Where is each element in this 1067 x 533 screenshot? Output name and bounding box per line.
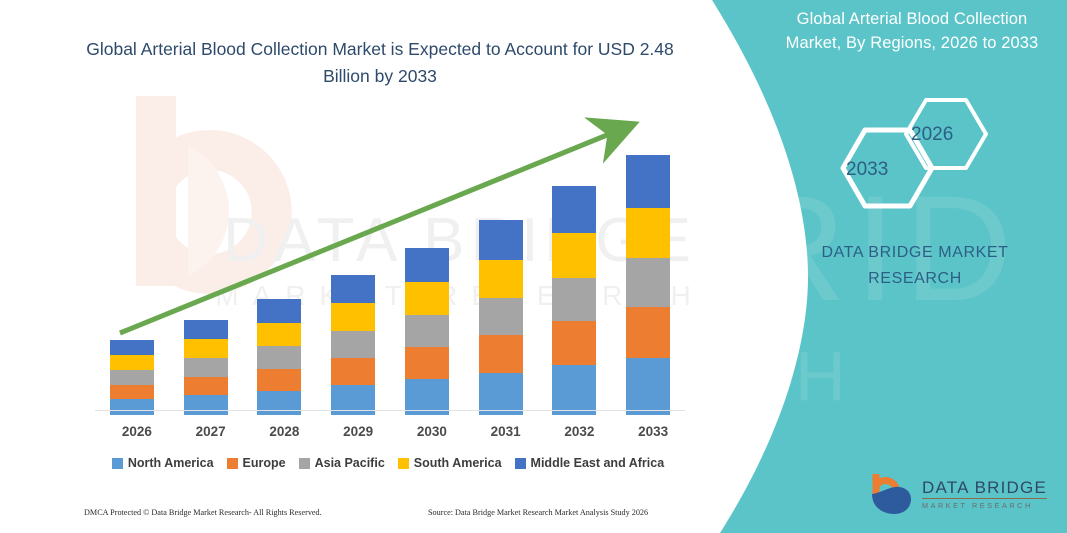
- bar-segment: [552, 365, 596, 415]
- legend-swatch-icon: [515, 458, 526, 469]
- chart-panel: DATA BRIDGE MARKET RESEARCH Global Arter…: [0, 0, 740, 533]
- x-tick-2031: 2031: [476, 424, 536, 439]
- bar-segment: [184, 395, 228, 415]
- bar-segment: [331, 275, 375, 303]
- bar-segment: [479, 298, 523, 335]
- x-axis-tick-labels: 20262027202820292030203120322033: [95, 420, 685, 444]
- bar-segment: [110, 385, 154, 399]
- right-panel-title: Global Arterial Blood Collection Market,…: [772, 8, 1052, 56]
- brand-logo-text: DATA BRIDGE MARKET RESEARCH: [922, 479, 1047, 509]
- bar-segment: [552, 233, 596, 278]
- bar-segment: [626, 258, 670, 307]
- x-tick-2027: 2027: [181, 424, 241, 439]
- bar-segment: [331, 331, 375, 358]
- legend-label: Europe: [243, 456, 286, 470]
- bar-2027: [184, 320, 228, 415]
- bar-segment: [110, 370, 154, 385]
- legend-label: South America: [414, 456, 502, 470]
- bar-2028: [257, 299, 301, 415]
- bar-segment: [405, 347, 449, 379]
- right-panel-brand: DATA BRIDGE MARKET RESEARCH: [790, 240, 1040, 291]
- bar-segment: [110, 355, 154, 370]
- legend-item[interactable]: Middle East and Africa: [515, 456, 665, 470]
- bar-segment: [479, 260, 523, 298]
- bar-segment: [626, 208, 670, 258]
- footer-source: Source: Data Bridge Market Research Mark…: [428, 508, 648, 517]
- bar-segment: [479, 220, 523, 260]
- hexagon-label-2026: 2026: [911, 124, 953, 146]
- legend-swatch-icon: [398, 458, 409, 469]
- bar-2030: [405, 248, 449, 415]
- bar-2029: [331, 275, 375, 415]
- chart-legend: North AmericaEuropeAsia PacificSouth Ame…: [98, 456, 678, 470]
- legend-swatch-icon: [299, 458, 310, 469]
- bar-segment: [331, 358, 375, 385]
- bar-segment: [257, 391, 301, 415]
- bar-segment: [626, 358, 670, 415]
- bar-segment: [552, 186, 596, 233]
- bar-segment: [110, 399, 154, 415]
- bar-segment: [184, 377, 228, 395]
- legend-swatch-icon: [112, 458, 123, 469]
- x-tick-2029: 2029: [328, 424, 388, 439]
- x-tick-2030: 2030: [402, 424, 462, 439]
- bar-segment: [331, 303, 375, 331]
- brand-logo: DATA BRIDGE MARKET RESEARCH: [868, 472, 1047, 516]
- page-title: Global Arterial Blood Collection Market …: [85, 36, 675, 90]
- legend-item[interactable]: South America: [398, 456, 502, 470]
- footer-copyright: DMCA Protected © Data Bridge Market Rese…: [84, 508, 322, 517]
- bar-segment: [184, 339, 228, 358]
- bar-segment: [552, 278, 596, 321]
- brand-logo-line2: MARKET RESEARCH: [922, 502, 1047, 509]
- bar-segment: [110, 340, 154, 355]
- hexagon-label-2033: 2033: [846, 159, 888, 181]
- bar-segment: [552, 321, 596, 365]
- legend-item[interactable]: Asia Pacific: [299, 456, 385, 470]
- bar-2033: [626, 155, 670, 415]
- bar-segment: [479, 335, 523, 373]
- brand-logo-line1: DATA BRIDGE: [922, 479, 1047, 499]
- bar-segment: [405, 315, 449, 347]
- x-axis-line: [95, 410, 685, 411]
- bar-2032: [552, 186, 596, 415]
- legend-swatch-icon: [227, 458, 238, 469]
- bar-segment: [405, 248, 449, 282]
- x-tick-2028: 2028: [254, 424, 314, 439]
- hexagon-group-icon: [828, 92, 1018, 212]
- bar-segment: [479, 373, 523, 415]
- bar-segment: [257, 369, 301, 391]
- bar-segment: [184, 320, 228, 339]
- bar-segment: [184, 358, 228, 377]
- x-tick-2032: 2032: [549, 424, 609, 439]
- infographic-root: DATA BRIDGE MARKET RESEARCH Global Arter…: [0, 0, 1067, 533]
- legend-label: Middle East and Africa: [531, 456, 665, 470]
- bar-segment: [405, 282, 449, 315]
- x-tick-2033: 2033: [623, 424, 683, 439]
- legend-label: Asia Pacific: [315, 456, 385, 470]
- bar-2026: [110, 340, 154, 415]
- bar-segment: [626, 307, 670, 358]
- x-tick-2026: 2026: [107, 424, 167, 439]
- bar-segment: [257, 346, 301, 369]
- bar-2031: [479, 220, 523, 415]
- legend-label: North America: [128, 456, 214, 470]
- brand-logo-mark-icon: [868, 472, 914, 516]
- bar-segment: [257, 299, 301, 323]
- bar-segment: [626, 155, 670, 208]
- bar-segment: [257, 323, 301, 346]
- legend-item[interactable]: Europe: [227, 456, 286, 470]
- stacked-bar-chart: [90, 120, 690, 415]
- legend-item[interactable]: North America: [112, 456, 214, 470]
